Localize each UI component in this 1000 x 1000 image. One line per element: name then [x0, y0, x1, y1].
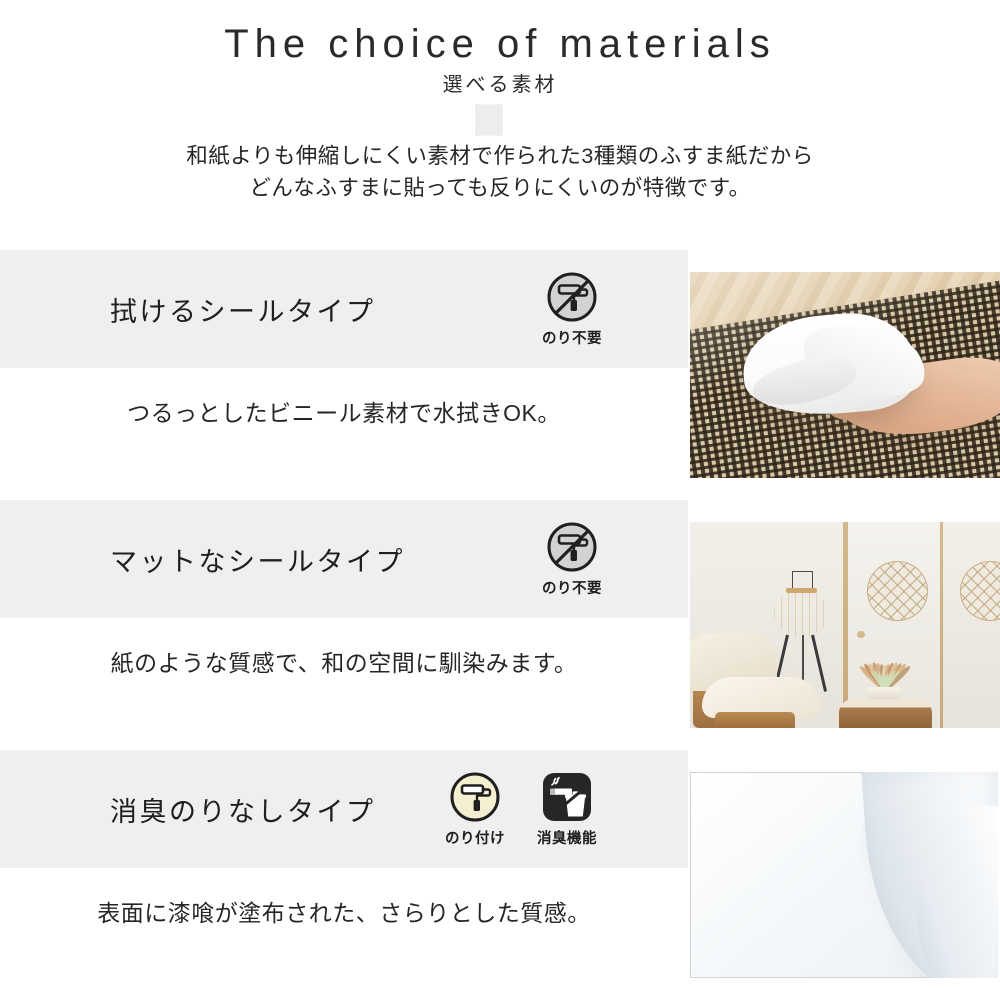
section-2-title: マットなシールタイプ [110, 500, 405, 618]
badge-no-glue: のり不要 [535, 521, 609, 598]
paint-roller-no-glue-icon [546, 521, 598, 573]
deodorize-icon [541, 771, 593, 823]
lead-paragraph: 和紙よりも伸縮しにくい素材で作られた3種類のふすま紙だから どんなふすまに貼って… [0, 140, 1000, 204]
page-title: The choice of materials [0, 22, 1000, 67]
section-2-photo [690, 522, 1000, 728]
fusuma-panel-right [943, 522, 1000, 728]
section-2-badges: のり不要 [535, 500, 609, 618]
section-3-description: 表面に漆喰が塗布された、さらりとした質感。 [0, 894, 688, 928]
badge-label: のり付け [445, 827, 505, 848]
section-1-description: つるっとしたビニール素材で水拭きOK。 [0, 394, 688, 428]
decorative-square [475, 104, 503, 136]
section-3-title: 消臭のりなしタイプ [110, 750, 376, 868]
badge-glue-applied: のり付け [438, 771, 512, 848]
section-3-photo [690, 772, 998, 978]
materials-page: The choice of materials 選べる素材 和紙よりも伸縮しにく… [0, 0, 1000, 1000]
section-1-title: 拭けるシールタイプ [110, 250, 376, 368]
badge-label: のり不要 [542, 577, 602, 598]
wooden-side-table [839, 699, 932, 728]
badge-deodorize: 消臭機能 [530, 771, 604, 848]
badge-no-glue: のり不要 [535, 271, 609, 348]
section-3-badges: のり付け 消臭機能 [438, 750, 604, 868]
badge-label: のり不要 [542, 327, 602, 348]
chair-wood-base [715, 712, 796, 728]
page-subtitle: 選べる素材 [0, 68, 1000, 97]
section-1-photo [690, 272, 1000, 478]
lattice-circle-1 [867, 561, 928, 621]
lead-line-1: 和紙よりも伸縮しにくい素材で作られた3種類のふすま紙だから [0, 140, 1000, 172]
badge-label: 消臭機能 [537, 827, 597, 848]
section-2-description: 紙のような質感で、和の空間に馴染みます。 [0, 644, 688, 678]
section-1-badges: のり不要 [535, 250, 609, 368]
lead-line-2: どんなふすまに貼っても反りにくいのが特徴です。 [0, 172, 1000, 204]
dried-grass-bouquet [851, 637, 919, 691]
paint-roller-glue-icon [449, 771, 501, 823]
paint-roller-no-glue-icon [546, 271, 598, 323]
page-header: The choice of materials 選べる素材 和紙よりも伸縮しにく… [0, 0, 1000, 230]
plant-pot [867, 687, 901, 700]
